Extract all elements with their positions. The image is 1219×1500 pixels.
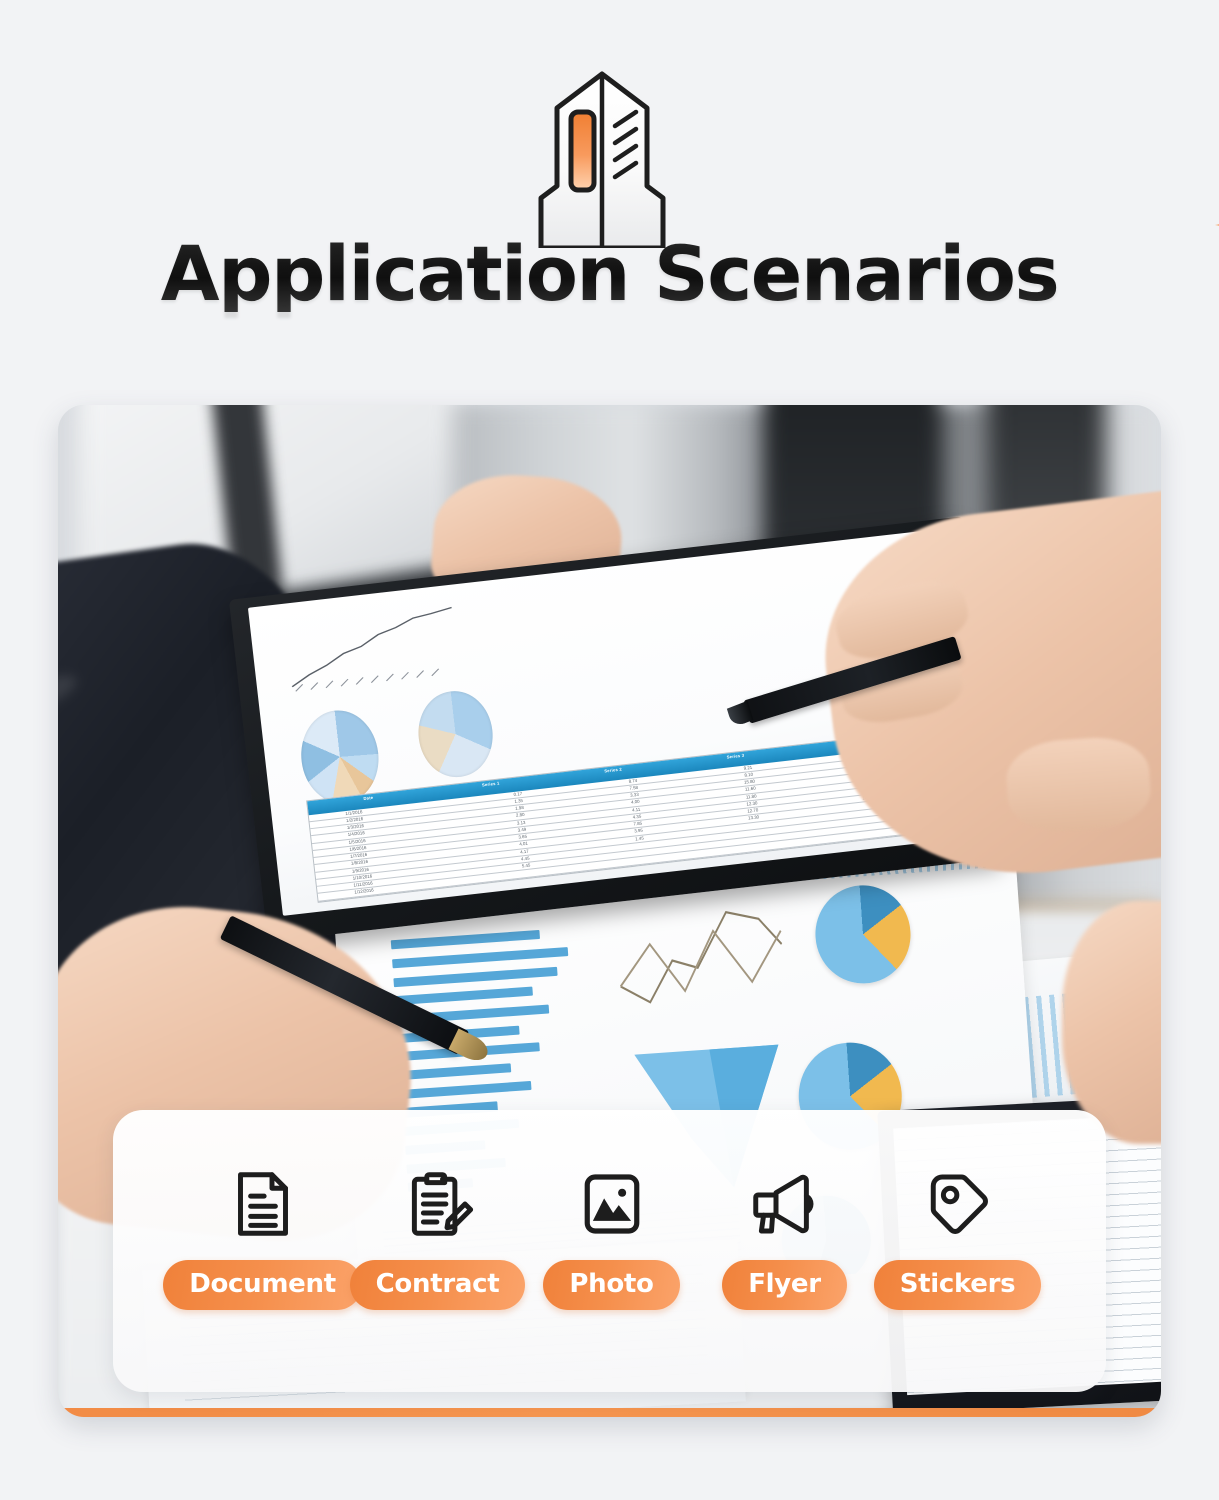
badge-label-stickers[interactable]: Stickers — [874, 1260, 1042, 1310]
document-icon — [227, 1168, 299, 1240]
photo-image-icon — [576, 1168, 648, 1240]
badge-label-contract[interactable]: Contract — [350, 1260, 526, 1310]
pie-chart-1 — [295, 706, 382, 807]
page-header: Application Scenarios — [0, 0, 1219, 392]
contract-clipboard-icon — [402, 1168, 474, 1240]
badge-label-photo[interactable]: Photo — [543, 1260, 679, 1310]
badge-item-document[interactable]: Document — [175, 1168, 350, 1310]
badge-item-photo[interactable]: Photo — [525, 1168, 698, 1310]
pie-chart-2 — [413, 687, 496, 781]
megaphone-flyer-icon — [749, 1168, 821, 1240]
badge-item-flyer[interactable]: Flyer — [698, 1168, 871, 1310]
pie-chart-small-1 — [812, 882, 914, 986]
badge-item-stickers[interactable]: Stickers — [871, 1168, 1044, 1310]
sparkle-star-icon — [1213, 200, 1219, 250]
line-chart — [278, 603, 468, 697]
badge-label-document[interactable]: Document — [163, 1260, 362, 1310]
badge-label-flyer[interactable]: Flyer — [722, 1260, 847, 1310]
sleeve-fold — [58, 668, 80, 720]
page-title: Application Scenarios — [161, 236, 1058, 312]
building-tower-icon — [495, 68, 710, 248]
price-tag-sticker-icon — [922, 1168, 994, 1240]
scenario-badge-panel: Document Contract Photo — [113, 1110, 1106, 1392]
page-title-row: Application Scenarios — [0, 236, 1219, 312]
badge-item-contract[interactable]: Contract — [350, 1168, 525, 1310]
line-scatter-chart — [607, 886, 794, 1032]
